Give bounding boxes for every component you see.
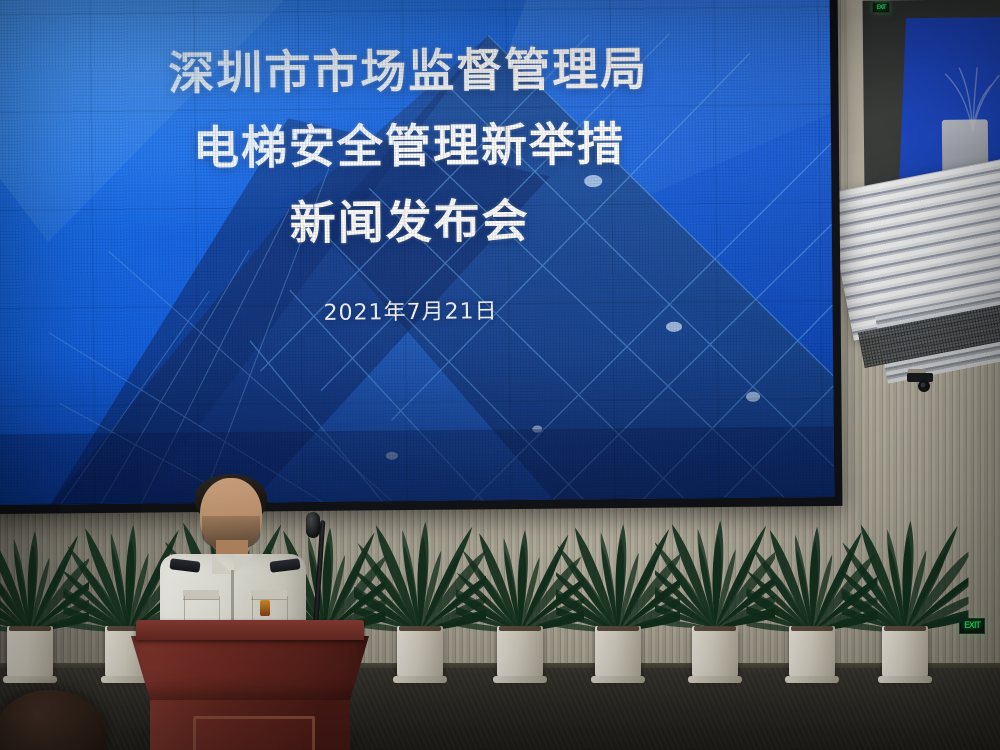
podium-front-panel: [193, 716, 315, 750]
plant-pot: [497, 626, 543, 678]
led-screen-bezel: 深圳市市场监督管理局 电梯安全管理新举措 新闻发布会 2021年7月21日: [0, 0, 842, 514]
press-conference-photo: EXIT EXIT: [0, 0, 1000, 750]
plant-foliage-icon: [842, 500, 969, 634]
speaker-collar-left: [212, 554, 232, 574]
potted-plant: [842, 492, 969, 678]
led-screen: 深圳市市场监督管理局 电梯安全管理新举措 新闻发布会 2021年7月21日: [0, 0, 834, 505]
security-camera-icon: [906, 367, 942, 397]
slide-background-building: [0, 0, 834, 505]
plant-pot: [595, 626, 641, 678]
exit-sign-upper: EXIT: [872, 2, 890, 13]
plant-pot: [397, 626, 443, 678]
speaker-collar-right: [234, 554, 254, 574]
podium-desktop: [136, 620, 364, 640]
speaker-pocket-right: [252, 596, 288, 623]
podium-body: [131, 636, 369, 700]
plant-pot: [692, 626, 738, 678]
speaker-name-badge: [260, 600, 270, 616]
plant-pot: [789, 626, 835, 678]
speaker-pocket-left: [184, 596, 220, 623]
plant-pot: [7, 626, 53, 678]
microphone-head: [306, 512, 320, 538]
plant-pot: [882, 626, 928, 678]
exit-sign-glyph-upper: EXIT: [876, 4, 885, 11]
